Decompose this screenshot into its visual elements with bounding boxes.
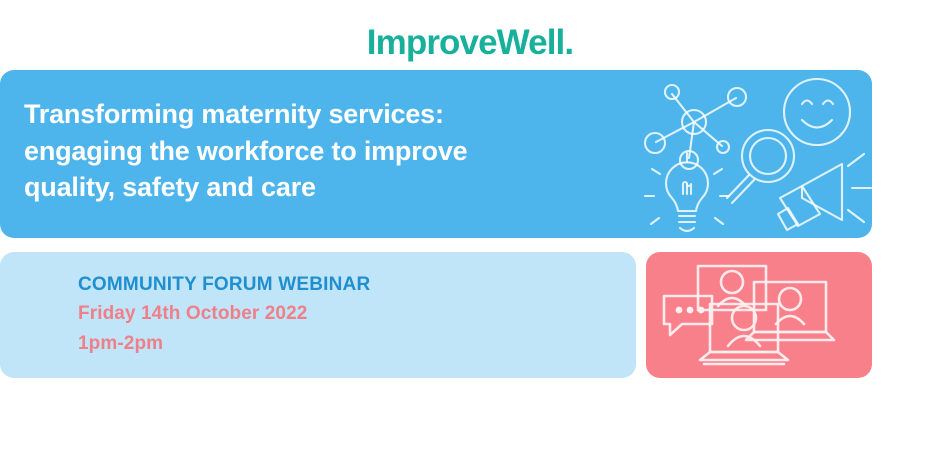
event-time: 1pm-2pm [78, 329, 370, 358]
video-call-graphic-box [646, 252, 872, 378]
event-type-label: COMMUNITY FORUM WEBINAR [78, 270, 370, 299]
page-title-line-1: Transforming maternity services: [24, 96, 644, 133]
brand-logo-text: ImproveWell. [367, 25, 573, 60]
page-title-line-2: engaging the workforce to improve [24, 133, 644, 170]
page-title: Transforming maternity services: engagin… [24, 96, 644, 206]
hero-illustration [642, 70, 872, 238]
smiley-face-icon [784, 79, 850, 145]
webinar-poster: ImproveWell. Transforming maternity serv… [0, 0, 940, 470]
video-call-illustration [646, 252, 872, 378]
page-title-line-3: quality, safety and care [24, 169, 644, 206]
event-details-box: COMMUNITY FORUM WEBINAR Friday 14th Octo… [0, 252, 636, 378]
event-details-text: COMMUNITY FORUM WEBINAR Friday 14th Octo… [78, 270, 370, 358]
chat-bubble-icon [664, 296, 712, 335]
magnifying-glass-icon [727, 130, 794, 203]
event-date: Friday 14th October 2022 [78, 299, 370, 328]
hero-banner: Transforming maternity services: engagin… [0, 70, 872, 238]
network-nodes-icon [645, 85, 746, 169]
lightbulb-icon [645, 153, 729, 231]
brand-logo: ImproveWell. [0, 18, 940, 66]
megaphone-icon [778, 154, 871, 230]
